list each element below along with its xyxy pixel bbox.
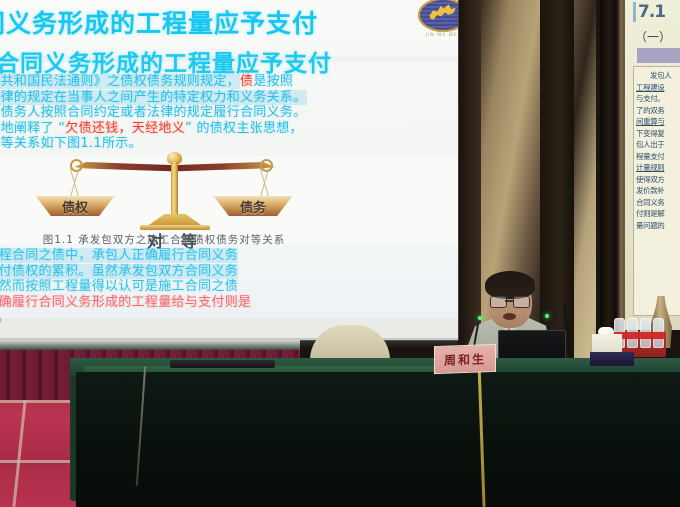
wall-dark-strip-2 xyxy=(540,0,574,360)
side-screen-line: 计量规则 xyxy=(636,162,680,174)
slide-lower-line: 人正确履行合同义务形成的工程量给与支付则是 xyxy=(0,295,458,311)
side-screen-subtitle: （一） xyxy=(635,28,671,45)
side-screen-title: 7.1 xyxy=(633,2,665,22)
screenshot-root: 7.1 （一） 发包人 工程建设 与支付。 了的双务 间重算与 下变得复 包人出… xyxy=(0,0,680,507)
side-screen-line: 合同义务 xyxy=(636,197,680,209)
side-screen-line: 包人出于 xyxy=(636,139,680,151)
nameplate: 周和生 xyxy=(434,344,496,374)
slide-body-line: 要求债务人按照合同约定或者法律的规定履行合同义务。 xyxy=(0,105,458,121)
scale-pan-right-label: 债务 xyxy=(240,197,266,216)
side-screen-textbox: 发包人 工程建设 与支付。 了的双务 间重算与 下变得复 包人出于 程量支付 计… xyxy=(633,66,680,316)
side-screen-line: 量问题的 xyxy=(636,220,680,232)
wall-dark-strip-1 xyxy=(455,0,481,360)
side-screen-line: 与支付。 xyxy=(636,93,680,105)
glasses-bridge xyxy=(505,300,513,302)
figure-caption: 图1.1 承发包双方之施工合同债权债务对等关系 xyxy=(0,232,334,247)
scale-post xyxy=(171,162,178,218)
side-projection-screen: 7.1 （一） 发包人 工程建设 与支付。 了的双务 间重算与 下变得复 包人出… xyxy=(622,0,680,330)
desk-front-cloth xyxy=(76,372,680,507)
closed-laptop xyxy=(170,360,275,368)
speaker-mouth xyxy=(503,313,516,320)
water-bottle xyxy=(640,318,651,348)
side-screen-line: 发包人 xyxy=(636,70,680,82)
slide-body-line: 意赅地阐释了 “欠债还钱，天经地义” 的债权主张思想， xyxy=(0,121,458,137)
microphone-led-left xyxy=(478,316,482,320)
side-screen-line: 工程建设 xyxy=(636,82,680,94)
side-screen-line: 付则是解 xyxy=(636,208,680,220)
slide-heading-1: 同义务形成的工程量应予支付 xyxy=(0,4,450,40)
slide-lower-line: 期支付债权的累积。虽然承发包双方合同义务 xyxy=(0,264,458,280)
slide-lower-line: ” 的。 xyxy=(0,310,458,326)
water-bottle xyxy=(627,318,638,348)
horse-glyph xyxy=(427,2,457,24)
stage-skirting-rail xyxy=(0,340,300,350)
glasses-lens-left xyxy=(490,296,507,308)
slide-body-line: 人民共和国民法通则》之债权债务规则规定，债是按照 xyxy=(0,74,458,90)
glasses-lens-right xyxy=(513,296,530,308)
side-screen-bar xyxy=(637,48,680,63)
dark-box xyxy=(590,352,634,366)
main-projection-screen: 同义务形成的工程量应予支付 行合同义务形成的工程量应予支付 人民共和国民法通则》… xyxy=(0,0,458,340)
scale-pan-right: 债务 xyxy=(210,196,296,216)
slide-heading-2: 行合同义务形成的工程量应予支付 xyxy=(0,44,452,78)
nameplate-text: 周和生 xyxy=(444,350,486,368)
emblem-subtitle: JIN MA WEI xyxy=(414,33,458,38)
side-screen-line: 使得双方 xyxy=(636,174,680,186)
side-screen-line: 下变得复 xyxy=(636,128,680,140)
slide-lower-line: 务工程合同之债中，承包人正确履行合同义务 xyxy=(0,248,458,264)
scale-pan-left-label: 债权 xyxy=(62,197,88,216)
balance-scale-figure: 债权 债务 对 等 xyxy=(54,148,294,234)
slide-lower-line: 性，然而按照工程量得以认可是施工合同之债 xyxy=(0,279,458,295)
side-screen-line: 发价款补 xyxy=(636,185,680,197)
water-bottle xyxy=(653,318,664,348)
side-screen-line: 程量支付 xyxy=(636,151,680,163)
speaker-hair xyxy=(485,271,535,299)
pillar xyxy=(600,0,622,372)
side-screen-line: 了的双务 xyxy=(636,105,680,117)
slide-lower-paragraph: 务工程合同之债中，承包人正确履行合同义务 期支付债权的累积。虽然承发包双方合同义… xyxy=(0,248,458,326)
glasses-icon xyxy=(490,296,530,306)
microphone-led-right xyxy=(545,314,549,318)
side-screen-line: 间重算与 xyxy=(636,116,680,128)
slide-body-line: 或法律的规定在当事人之间产生的特定权力和义务关系。 xyxy=(0,90,458,106)
slide-body-paragraph: 人民共和国民法通则》之债权债务规则规定，债是按照 或法律的规定在当事人之间产生的… xyxy=(0,74,458,152)
